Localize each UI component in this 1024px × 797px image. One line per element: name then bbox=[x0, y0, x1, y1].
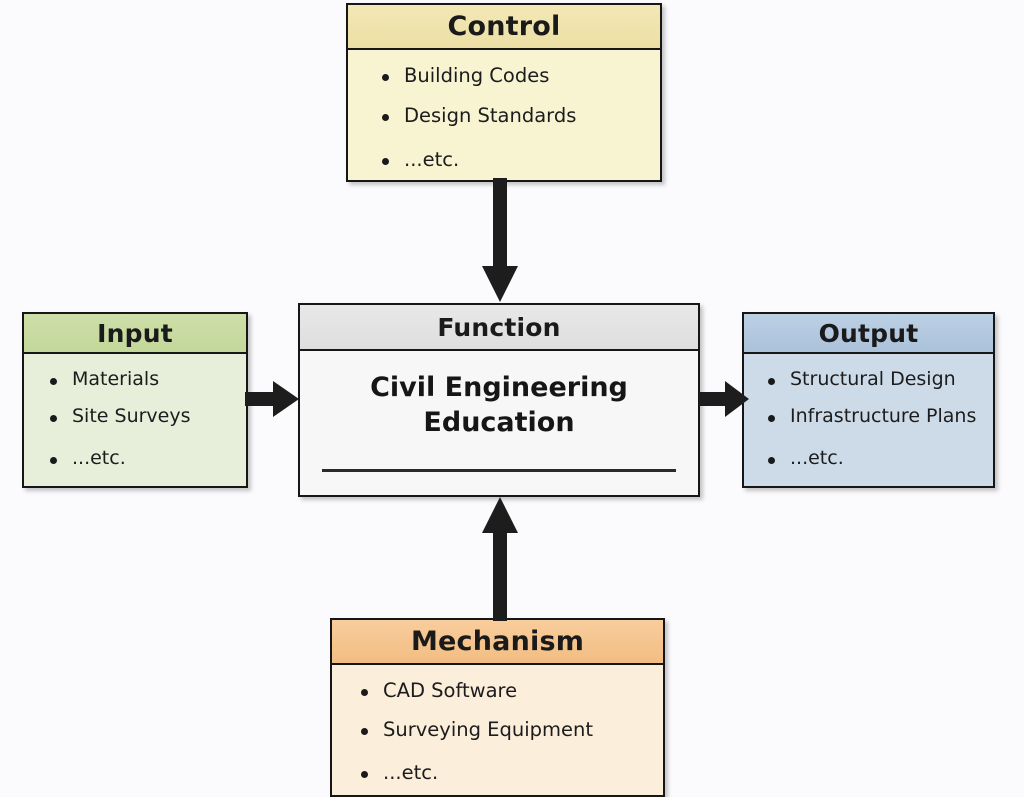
mechanism-item-list: CAD Software Surveying Equipment ...etc. bbox=[332, 679, 663, 784]
function-box-header: Function bbox=[300, 305, 698, 351]
list-item: Site Surveys bbox=[46, 405, 246, 427]
input-box-title: Input bbox=[97, 319, 173, 348]
list-item: ...etc. bbox=[357, 761, 663, 784]
output-box[interactable]: Output Structural Design Infrastructure … bbox=[742, 312, 995, 488]
list-item: ...etc. bbox=[764, 447, 993, 469]
control-item-list: Building Codes Design Standards ...etc. bbox=[348, 64, 660, 171]
output-box-body: Structural Design Infrastructure Plans .… bbox=[744, 354, 993, 486]
input-box-body: Materials Site Surveys ...etc. bbox=[24, 354, 246, 486]
list-item: Structural Design bbox=[764, 368, 993, 390]
mechanism-box-header: Mechanism bbox=[332, 620, 663, 665]
mechanism-box[interactable]: Mechanism CAD Software Surveying Equipme… bbox=[330, 618, 665, 797]
function-name-line-1: Civil Engineering bbox=[300, 371, 698, 406]
mechanism-box-body: CAD Software Surveying Equipment ...etc. bbox=[332, 665, 663, 797]
control-box-header: Control bbox=[348, 5, 660, 50]
function-box[interactable]: Function Civil Engineering Education bbox=[298, 303, 700, 497]
input-item-list: Materials Site Surveys ...etc. bbox=[24, 368, 246, 469]
function-divider-rule bbox=[322, 469, 676, 472]
input-box[interactable]: Input Materials Site Surveys ...etc. bbox=[22, 312, 248, 488]
arrow-function-to-output-icon bbox=[699, 378, 755, 420]
input-box-header: Input bbox=[24, 314, 246, 354]
function-name-line-2: Education bbox=[300, 406, 698, 441]
list-item: Surveying Equipment bbox=[357, 718, 663, 741]
function-box-title: Function bbox=[437, 313, 560, 342]
list-item: Materials bbox=[46, 368, 246, 390]
output-box-title: Output bbox=[819, 319, 919, 348]
output-item-list: Structural Design Infrastructure Plans .… bbox=[744, 368, 993, 469]
list-item: Infrastructure Plans bbox=[764, 405, 993, 427]
list-item: Building Codes bbox=[378, 64, 660, 87]
list-item: ...etc. bbox=[46, 447, 246, 469]
control-box-title: Control bbox=[447, 11, 560, 42]
function-box-body: Civil Engineering Education bbox=[300, 351, 698, 495]
arrow-control-to-function-icon bbox=[465, 178, 535, 304]
list-item: CAD Software bbox=[357, 679, 663, 702]
control-box-body: Building Codes Design Standards ...etc. bbox=[348, 50, 660, 180]
output-box-header: Output bbox=[744, 314, 993, 354]
list-item: ...etc. bbox=[378, 148, 660, 171]
control-box[interactable]: Control Building Codes Design Standards … bbox=[346, 3, 662, 182]
mechanism-box-title: Mechanism bbox=[411, 626, 584, 657]
function-name-text: Civil Engineering Education bbox=[300, 371, 698, 440]
idef0-diagram-canvas: Control Building Codes Design Standards … bbox=[0, 0, 1024, 797]
arrow-input-to-function-icon bbox=[245, 378, 301, 420]
arrow-mechanism-to-function-icon bbox=[465, 495, 535, 621]
list-item: Design Standards bbox=[378, 104, 660, 127]
